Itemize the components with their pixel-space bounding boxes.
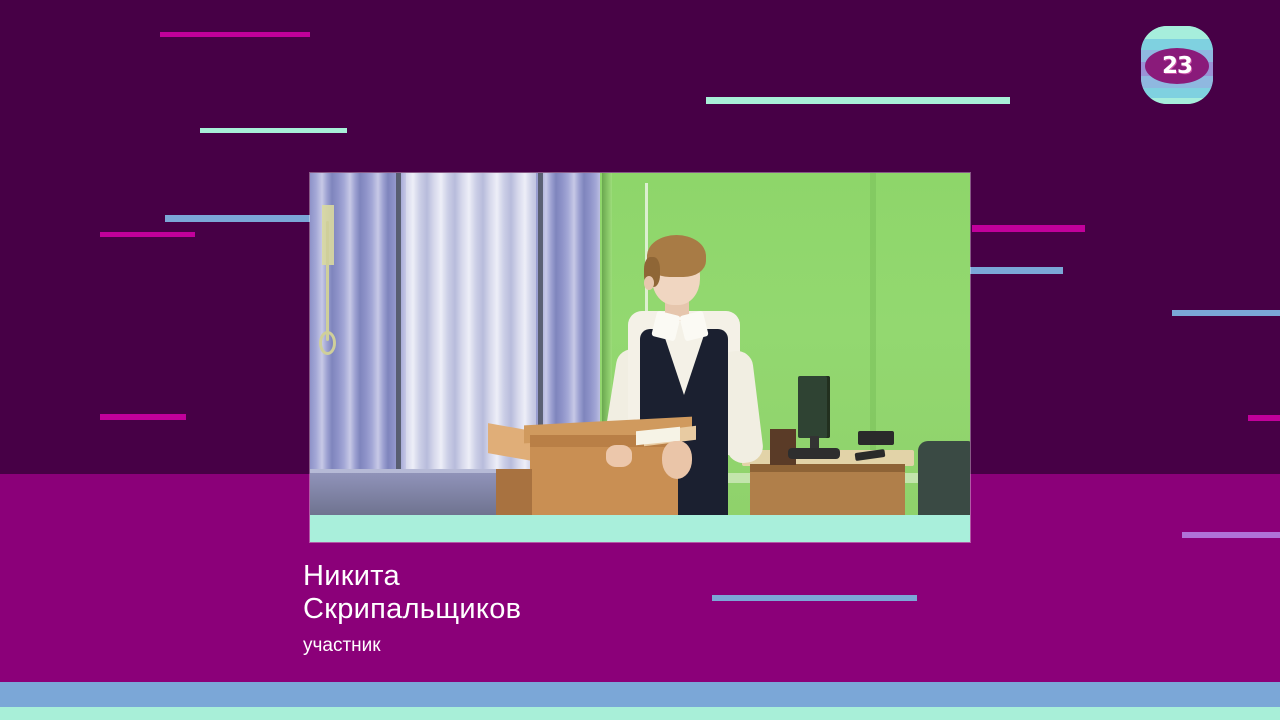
background-band-blue: [0, 682, 1280, 707]
video-image: [310, 173, 970, 515]
person-name: Никита Скрипальщиков: [303, 560, 803, 626]
blinds-cord: [326, 221, 329, 341]
speaker-ear: [644, 276, 654, 290]
podium-leg: [496, 469, 532, 515]
dash-magenta-1: [160, 32, 310, 37]
dash-magenta-3: [972, 225, 1085, 232]
logo-stripe: [1141, 98, 1213, 104]
dash-blue-3: [1172, 310, 1280, 316]
dash-mint-2: [706, 97, 1010, 104]
logo-channel-number: 23: [1145, 48, 1209, 84]
logo-stripe: [1141, 88, 1213, 98]
dash-mint-1: [200, 128, 347, 133]
logo-oval: 23: [1145, 48, 1209, 84]
podium-front: [530, 435, 678, 515]
computer-box: [770, 429, 796, 465]
logo-badge-shape: 23: [1141, 26, 1213, 104]
person-role: участник: [303, 634, 803, 658]
window-sash: [396, 173, 401, 515]
video-frame[interactable]: [310, 173, 970, 542]
monitor-screen: [798, 376, 830, 438]
video-caption-bar: [310, 515, 970, 542]
monitor-base: [788, 448, 840, 459]
dash-blue-1: [165, 215, 311, 222]
office-chair: [918, 441, 970, 515]
blinds-cord-loop: [319, 331, 336, 355]
desk-shadow: [750, 464, 905, 472]
broadcast-overlay: 23 Никита Скрипальщиков участник: [0, 0, 1280, 720]
speaker-right-hand: [662, 441, 692, 479]
background-band-mint: [0, 707, 1280, 720]
channel-logo[interactable]: 23: [1141, 26, 1213, 104]
lower-third: Никита Скрипальщиков участник: [303, 560, 803, 658]
dash-violet-1: [1182, 532, 1280, 538]
dash-magenta-4: [100, 414, 186, 420]
dash-blue-2: [970, 267, 1063, 274]
speaker-left-hand: [606, 445, 632, 467]
dash-magenta-5: [1248, 415, 1280, 421]
dash-magenta-2: [100, 232, 195, 237]
desk-speaker: [858, 431, 894, 445]
logo-stripe: [1141, 26, 1213, 39]
